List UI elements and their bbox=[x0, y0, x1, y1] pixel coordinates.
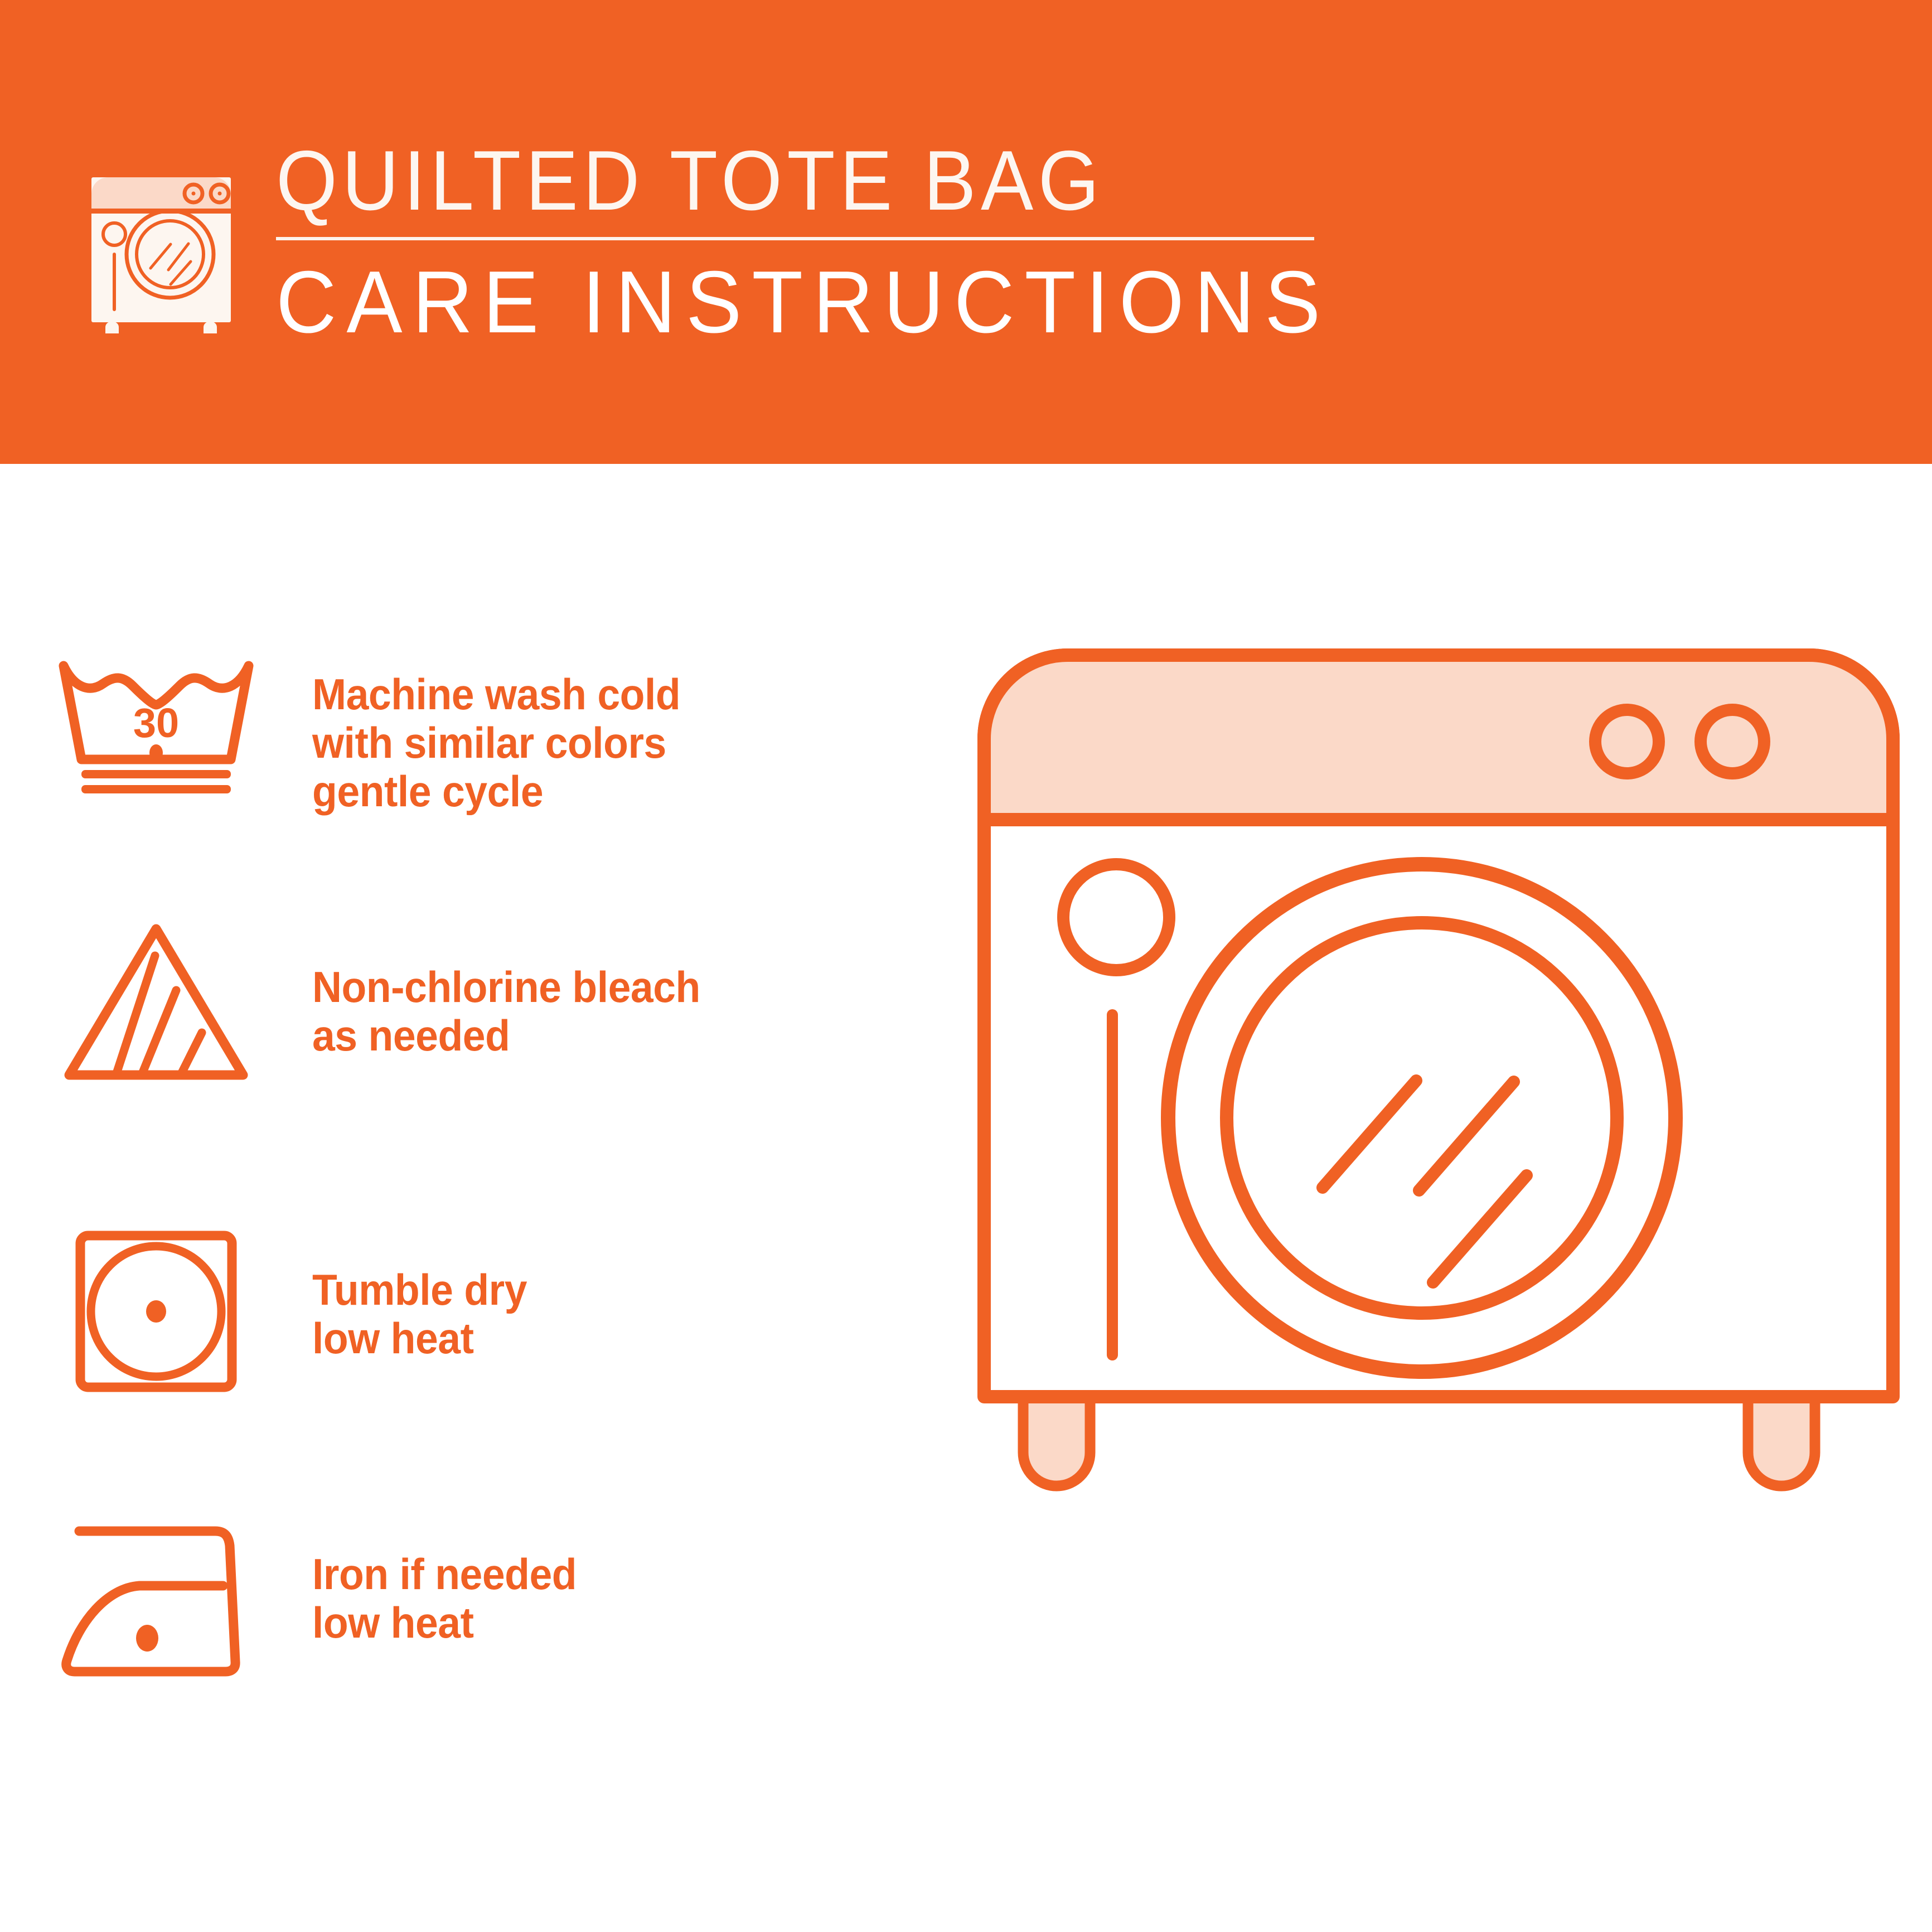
title-divider bbox=[276, 237, 1314, 240]
list-item: Tumble dry low heat bbox=[0, 1228, 948, 1395]
non-chlorine-bleach-triangle-icon bbox=[0, 921, 312, 1088]
instruction-text: Tumble dry low heat bbox=[312, 1228, 527, 1363]
care-instructions-list: 30 Machine wash cold with similar colors… bbox=[0, 464, 948, 1932]
instruction-text: Non-chlorine bleach as needed bbox=[312, 921, 700, 1060]
header-banner: QUILTED TOTE BAG CARE INSTRUCTIONS bbox=[0, 0, 1932, 464]
instruction-text: Iron if needed low heat bbox=[312, 1512, 577, 1647]
washer-handle-line bbox=[1107, 1009, 1118, 1360]
header-content: QUILTED TOTE BAG CARE INSTRUCTIONS bbox=[84, 134, 1366, 346]
list-item: 30 Machine wash cold with similar colors… bbox=[0, 653, 948, 821]
page-subtitle: CARE INSTRUCTIONS bbox=[276, 255, 1352, 350]
washing-machine-illustration bbox=[970, 641, 1912, 1656]
washing-machine-icon bbox=[84, 138, 251, 333]
machine-wash-30-gentle-icon: 30 bbox=[0, 653, 312, 821]
list-item: Iron if needed low heat bbox=[0, 1512, 948, 1679]
iron-low-heat-icon bbox=[0, 1512, 312, 1679]
list-item: Non-chlorine bleach as needed bbox=[0, 921, 948, 1088]
instruction-text: Machine wash cold with similar colors ge… bbox=[312, 653, 680, 816]
washer-knob-right bbox=[1701, 710, 1764, 773]
washer-knob-left bbox=[1595, 710, 1659, 773]
svg-text:30: 30 bbox=[133, 700, 179, 746]
header-title-group: QUILTED TOTE BAG CARE INSTRUCTIONS bbox=[276, 134, 1408, 350]
page-title: QUILTED TOTE BAG bbox=[276, 134, 1329, 227]
tumble-dry-low-heat-icon bbox=[0, 1228, 312, 1395]
